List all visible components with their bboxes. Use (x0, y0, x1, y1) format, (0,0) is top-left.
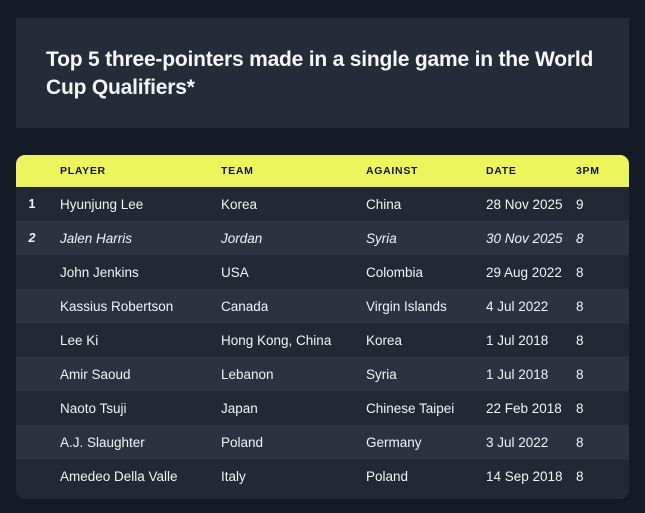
cell-rank (16, 357, 54, 391)
table-row: John Jenkins USA Colombia 29 Aug 2022 8 (16, 255, 629, 289)
cell-team: Poland (217, 425, 362, 459)
table-row: Amedeo Della Valle Italy Poland 14 Sep 2… (16, 459, 629, 493)
table-header: PLAYER TEAM AGAINST DATE 3PM (16, 155, 629, 187)
cell-team: Hong Kong, China (217, 323, 362, 357)
page-root: Top 5 three-pointers made in a single ga… (0, 0, 645, 513)
cell-date: 22 Feb 2018 (482, 391, 572, 425)
column-header-3pm: 3PM (572, 155, 629, 187)
cell-date: 1 Jul 2018 (482, 323, 572, 357)
cell-3pm: 8 (572, 459, 629, 493)
cell-against: Chinese Taipei (362, 391, 482, 425)
cell-against: Korea (362, 323, 482, 357)
column-header-date: DATE (482, 155, 572, 187)
page-title: Top 5 three-pointers made in a single ga… (46, 46, 599, 102)
column-header-player: PLAYER (54, 155, 217, 187)
cell-rank (16, 289, 54, 323)
cell-date: 3 Jul 2022 (482, 425, 572, 459)
cell-rank (16, 391, 54, 425)
table-row: Naoto Tsuji Japan Chinese Taipei 22 Feb … (16, 391, 629, 425)
column-header-team: TEAM (217, 155, 362, 187)
table-row: Kassius Robertson Canada Virgin Islands … (16, 289, 629, 323)
column-header-rank (16, 155, 54, 187)
cell-date: 4 Jul 2022 (482, 289, 572, 323)
cell-date: 14 Sep 2018 (482, 459, 572, 493)
stats-table: PLAYER TEAM AGAINST DATE 3PM 1 Hyunjung … (16, 155, 629, 499)
cell-rank: 2 (16, 221, 54, 255)
cell-player: Kassius Robertson (54, 289, 217, 323)
cell-player: Naoto Tsuji (54, 391, 217, 425)
cell-against: Colombia (362, 255, 482, 289)
cell-against: Virgin Islands (362, 289, 482, 323)
table-row: Amir Saoud Lebanon Syria 1 Jul 2018 8 (16, 357, 629, 391)
cell-3pm: 8 (572, 255, 629, 289)
cell-date: 28 Nov 2025 (482, 187, 572, 221)
cell-team: Korea (217, 187, 362, 221)
table-header-row: PLAYER TEAM AGAINST DATE 3PM (16, 155, 629, 187)
cell-against: China (362, 187, 482, 221)
cell-player: Hyunjung Lee (54, 187, 217, 221)
cell-rank (16, 425, 54, 459)
cell-against: Syria (362, 221, 482, 255)
cell-player: A.J. Slaughter (54, 425, 217, 459)
cell-team: Italy (217, 459, 362, 493)
cell-3pm: 8 (572, 289, 629, 323)
spacer-cell (16, 493, 629, 499)
cell-against: Poland (362, 459, 482, 493)
cell-player: Jalen Harris (54, 221, 217, 255)
cell-3pm: 8 (572, 391, 629, 425)
cell-date: 1 Jul 2018 (482, 357, 572, 391)
cell-player: Amedeo Della Valle (54, 459, 217, 493)
cell-rank (16, 255, 54, 289)
cell-rank (16, 323, 54, 357)
cell-3pm: 8 (572, 425, 629, 459)
cell-against: Syria (362, 357, 482, 391)
cell-team: Japan (217, 391, 362, 425)
cell-team: USA (217, 255, 362, 289)
table-row: 1 Hyunjung Lee Korea China 28 Nov 2025 9 (16, 187, 629, 221)
stats-table-container: PLAYER TEAM AGAINST DATE 3PM 1 Hyunjung … (16, 155, 629, 499)
cell-against: Germany (362, 425, 482, 459)
table-row: 2 Jalen Harris Jordan Syria 30 Nov 2025 … (16, 221, 629, 255)
column-header-against: AGAINST (362, 155, 482, 187)
table-body: 1 Hyunjung Lee Korea China 28 Nov 2025 9… (16, 187, 629, 499)
cell-player: Lee Ki (54, 323, 217, 357)
cell-team: Jordan (217, 221, 362, 255)
table-bottom-spacer (16, 493, 629, 499)
cell-3pm: 8 (572, 357, 629, 391)
cell-date: 29 Aug 2022 (482, 255, 572, 289)
cell-team: Lebanon (217, 357, 362, 391)
cell-player: Amir Saoud (54, 357, 217, 391)
cell-3pm: 8 (572, 221, 629, 255)
title-card: Top 5 three-pointers made in a single ga… (16, 18, 629, 128)
cell-3pm: 8 (572, 323, 629, 357)
table-row: Lee Ki Hong Kong, China Korea 1 Jul 2018… (16, 323, 629, 357)
cell-team: Canada (217, 289, 362, 323)
cell-date: 30 Nov 2025 (482, 221, 572, 255)
cell-player: John Jenkins (54, 255, 217, 289)
table-row: A.J. Slaughter Poland Germany 3 Jul 2022… (16, 425, 629, 459)
cell-3pm: 9 (572, 187, 629, 221)
cell-rank: 1 (16, 187, 54, 221)
cell-rank (16, 459, 54, 493)
